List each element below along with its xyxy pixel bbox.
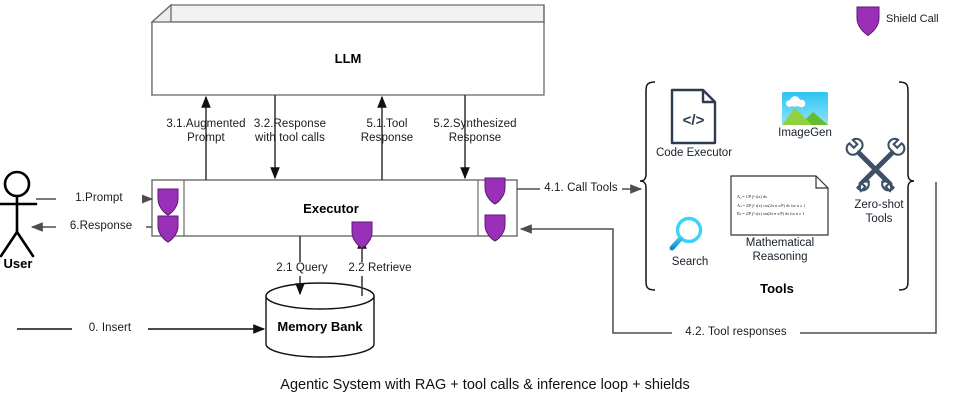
code-document-icon: </> [672,90,715,143]
flow-label-4-1: 4.1. Call Tools [540,182,622,196]
flow-label-3-2: 3.2.Response with tool calls [230,118,350,145]
svg-text:</>: </> [683,112,705,129]
user-label: User [0,256,36,271]
tool-label-zero-shot-tools: Zero-shot Tools [845,198,913,226]
tools-group-label: Tools [727,281,827,296]
shield-tool-responses-icon [485,215,505,241]
legend-label: Shield Call [886,13,939,25]
image-picture-icon [782,92,828,125]
tool-label-code-executor: Code Executor [650,146,738,160]
llm-node [152,5,544,95]
flow-label-2-2: 2.2 Retrieve [337,262,423,276]
user-actor [0,172,36,256]
flow-label-6: 6.Response [56,220,146,234]
legend-shield-icon [857,7,879,36]
flow-label-5-2: 5.2.Synthesized Response [420,118,530,145]
flow-label-4-2: 4.2. Tool responses [672,326,800,340]
shield-output-response-icon [158,216,178,242]
flow-label-1: 1.Prompt [56,192,142,206]
tool-label-mathematical-reasoning: Mathematical Reasoning [740,236,820,264]
shield-retrieve-icon [352,222,372,248]
formula-line-2: Aₙ = 2/P ∫ᵖ s(x) cos(2π n x/P) dx for n … [737,202,823,211]
tool-label-search: Search [662,255,718,269]
crossed-wrenches-icon [847,139,905,191]
tool-label-image-gen: ImageGen [769,126,841,140]
formula-line-3: Bₙ = 2/P ∫ᵖ s(x) sin(2π n x/P) dx for n … [737,210,823,219]
flow-label-0: 0. Insert [72,322,148,336]
magnifier-icon [672,219,701,249]
llm-label: LLM [152,51,544,66]
diagram-canvas: </> [0,0,970,411]
executor-label: Executor [184,201,478,216]
formula-line-1: A₀ = 1/P ∫ᵖ s(x) dx [737,193,823,202]
flow-label-2-1: 2.1 Query [263,262,341,276]
formula-text-block: A₀ = 1/P ∫ᵖ s(x) dx Aₙ = 2/P ∫ᵖ s(x) cos… [737,193,823,219]
diagram-caption: Agentic System with RAG + tool calls & i… [0,377,970,393]
memory-bank-label: Memory Bank [266,319,374,334]
